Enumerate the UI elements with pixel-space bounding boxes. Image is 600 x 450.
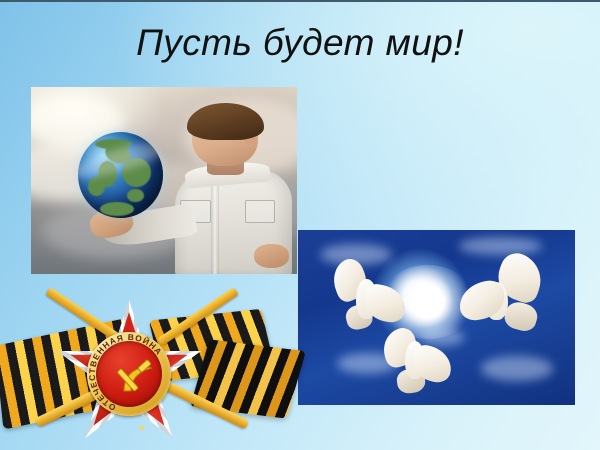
globe-cloud <box>100 202 134 216</box>
hammer-and-sickle-icon <box>114 357 162 405</box>
dove <box>328 260 406 334</box>
medal-small-star <box>139 424 146 431</box>
shirt-pocket-right <box>245 200 275 224</box>
boy-hand-lower <box>254 244 289 268</box>
globe-landmass <box>88 177 105 196</box>
doves-in-sky-photo: Три белых голубя летят в синем небе на ф… <box>298 230 575 405</box>
dove <box>459 255 548 336</box>
earth-globe <box>78 132 163 218</box>
order-of-patriotic-war-graphic: ОТЕЧЕСТВЕННАЯ ВОЙНА Орден Отечественной … <box>0 290 292 450</box>
cloud-wisp <box>481 356 553 381</box>
globe-landmass <box>127 189 144 203</box>
boy-holding-earth-photo: Мальчик в белой рубашке держит на ладони… <box>31 87 297 274</box>
cloud-wisp <box>459 237 542 255</box>
shirt-placket <box>211 174 219 274</box>
slide-canvas: Пусть будет мир! Мал <box>0 0 600 450</box>
medal-red-disc <box>96 341 162 407</box>
medal-gold-ring: ОТЕЧЕСТВЕННАЯ ВОЙНА <box>87 332 171 416</box>
dove <box>378 325 456 399</box>
page-title: Пусть будет мир! <box>0 24 600 63</box>
